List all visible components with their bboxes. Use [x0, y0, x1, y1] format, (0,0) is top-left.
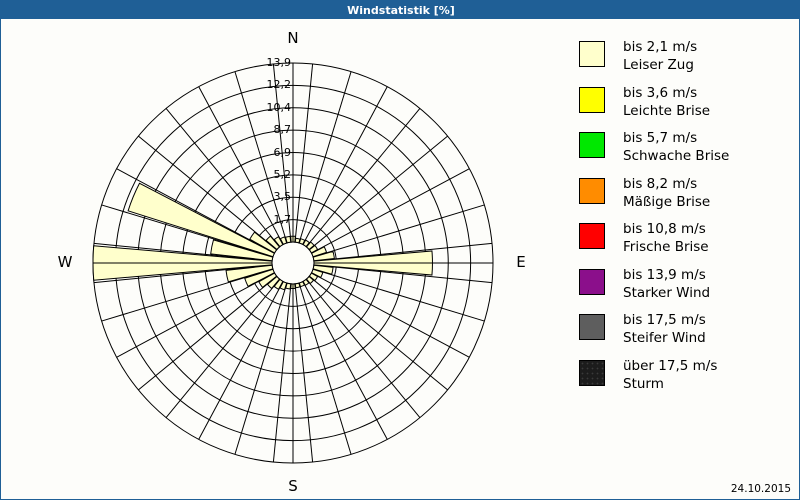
legend-item[interactable]: bis 17,5 m/sSteifer Wind	[579, 314, 706, 347]
legend-name-label: Steifer Wind	[623, 329, 706, 347]
legend-speed-label: bis 2,1 m/s	[623, 38, 697, 56]
legend-color-swatch	[579, 314, 605, 340]
legend-color-swatch	[579, 269, 605, 295]
radial-tick-label: 3,5	[251, 190, 291, 203]
legend-color-swatch	[579, 178, 605, 204]
footer-date: 24.10.2015	[731, 483, 791, 495]
legend-name-label: Frische Brise	[623, 238, 709, 256]
legend-name-label: Leiser Zug	[623, 56, 697, 74]
radial-tick-label: 6,9	[251, 146, 291, 159]
wind-rose-sector	[295, 283, 300, 288]
legend-item[interactable]: bis 13,9 m/sStarker Wind	[579, 269, 710, 302]
windstatistik-window: Windstatistik [%] N E S W 1,73,55,26,98,…	[0, 0, 800, 500]
legend-name-label: Mäßige Brise	[623, 193, 710, 211]
legend-item[interactable]: bis 3,6 m/sLeichte Brise	[579, 87, 710, 120]
legend-speed-label: bis 13,9 m/s	[623, 266, 710, 284]
legend-item[interactable]: bis 2,1 m/sLeiser Zug	[579, 41, 697, 74]
radial-tick-label: 1,7	[251, 213, 291, 226]
compass-label-north: N	[263, 29, 323, 47]
radial-tick-label: 10,4	[251, 101, 291, 114]
compass-label-south: S	[263, 477, 323, 495]
legend-name-label: Starker Wind	[623, 284, 710, 302]
legend-item[interactable]: bis 5,7 m/sSchwache Brise	[579, 132, 729, 165]
radial-tick-label: 8,7	[251, 123, 291, 136]
legend-speed-label: bis 10,8 m/s	[623, 220, 709, 238]
radial-tick-label: 12,2	[251, 78, 291, 91]
legend-speed-label: bis 8,2 m/s	[623, 175, 710, 193]
legend-name-label: Leichte Brise	[623, 102, 710, 120]
legend-color-swatch	[579, 41, 605, 67]
legend-speed-label: bis 3,6 m/s	[623, 84, 710, 102]
window-title-bar: Windstatistik [%]	[1, 1, 800, 19]
radial-tick-label: 13,9	[251, 56, 291, 69]
legend-color-swatch	[579, 132, 605, 158]
legend-speed-label: über 17,5 m/s	[623, 357, 717, 375]
window-title: Windstatistik [%]	[347, 4, 455, 17]
legend-color-swatch	[579, 223, 605, 249]
legend-item[interactable]: bis 10,8 m/sFrische Brise	[579, 223, 709, 256]
compass-label-west: W	[35, 253, 95, 271]
radial-tick-label: 5,2	[251, 168, 291, 181]
legend-speed-label: bis 17,5 m/s	[623, 311, 706, 329]
legend-name-label: Schwache Brise	[623, 147, 729, 165]
legend-speed-label: bis 5,7 m/s	[623, 129, 729, 147]
legend-item[interactable]: bis 8,2 m/sMäßige Brise	[579, 178, 710, 211]
wind-rose-grid-overlay	[93, 63, 493, 463]
legend-color-swatch	[579, 360, 605, 386]
legend-color-swatch	[579, 87, 605, 113]
wind-rose-plot: N E S W 1,73,55,26,98,710,412,213,9	[1, 19, 567, 499]
legend-item[interactable]: über 17,5 m/sSturm	[579, 360, 717, 393]
legend-name-label: Sturm	[623, 375, 717, 393]
compass-label-east: E	[491, 253, 551, 271]
legend: bis 2,1 m/sLeiser Zugbis 3,6 m/sLeichte …	[567, 19, 799, 499]
